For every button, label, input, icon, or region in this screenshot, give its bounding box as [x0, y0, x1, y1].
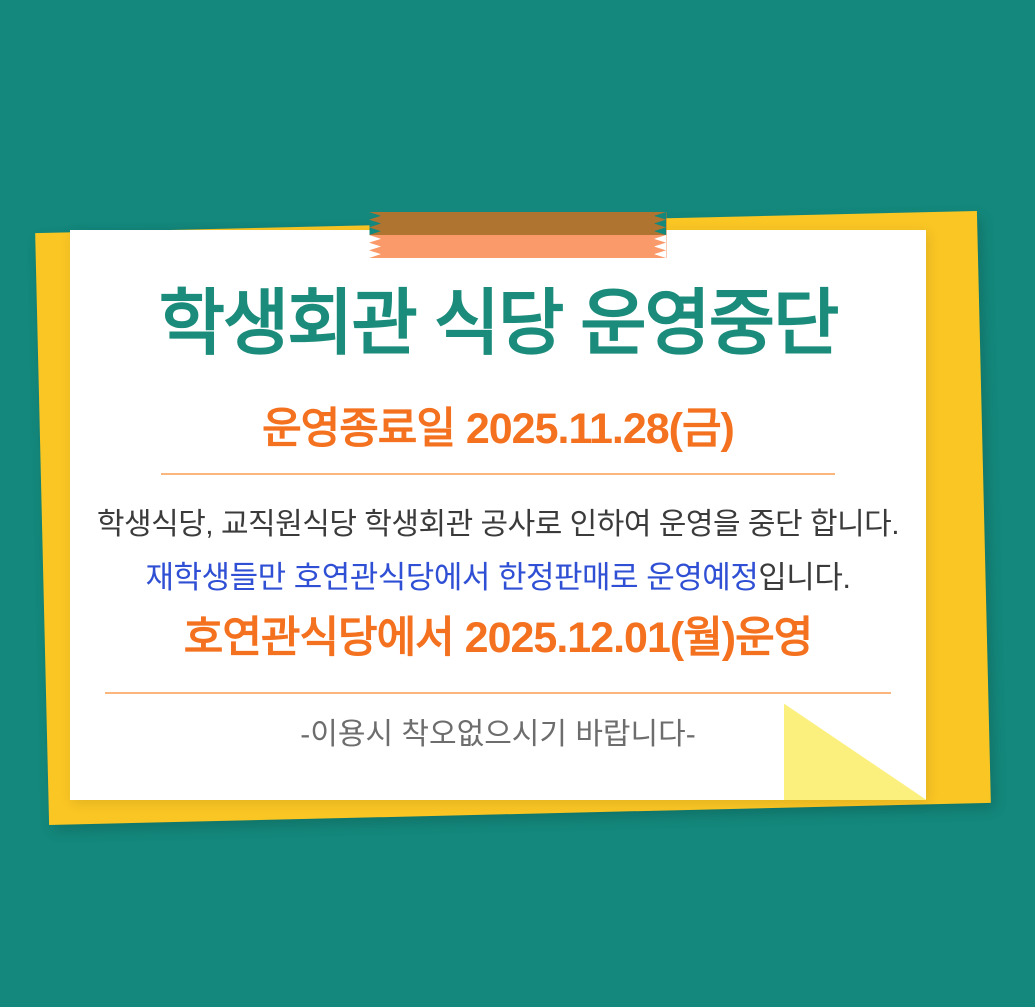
- closing-date-heading: 운영종료일 2025.11.28(금): [70, 408, 926, 451]
- ribbon-bottom-right-notch-icon: [654, 235, 666, 258]
- notice-poster: 학생회관 식당 운영중단 운영종료일 2025.11.28(금) 학생식당, 교…: [0, 0, 1035, 1007]
- ribbon-banner: [369, 212, 666, 258]
- notice-content: 학생회관 식당 운영중단 운영종료일 2025.11.28(금) 학생식당, 교…: [70, 230, 926, 800]
- divider-upper: [161, 473, 835, 475]
- ribbon-top-left-notch-icon: [369, 212, 381, 235]
- body-text-line-2-highlight: 재학생들만 호연관식당에서 한정판매로 운영예정: [146, 560, 759, 595]
- footer-note: -이용시 착오없으시기 바랍니다-: [70, 720, 926, 750]
- body-text-line-2-tail: 입니다.: [758, 560, 850, 595]
- body-text-line-2: 재학생들만 호연관식당에서 한정판매로 운영예정입니다.: [70, 562, 926, 593]
- body-text-line-1: 학생식당, 교직원식당 학생회관 공사로 인하여 운영을 중단 합니다.: [70, 510, 926, 540]
- divider-lower: [105, 692, 891, 694]
- reopening-location-heading: 호연관식당에서 2025.12.01(월)운영: [70, 617, 926, 660]
- ribbon-bottom-left-notch-icon: [369, 235, 381, 258]
- ribbon-top-right-notch-icon: [654, 212, 666, 235]
- notice-card: 학생회관 식당 운영중단 운영종료일 2025.11.28(금) 학생식당, 교…: [70, 230, 926, 800]
- page-title: 학생회관 식당 운영중단: [70, 288, 926, 360]
- ribbon-band-top: [369, 212, 666, 235]
- ribbon-band-bottom: [369, 235, 666, 258]
